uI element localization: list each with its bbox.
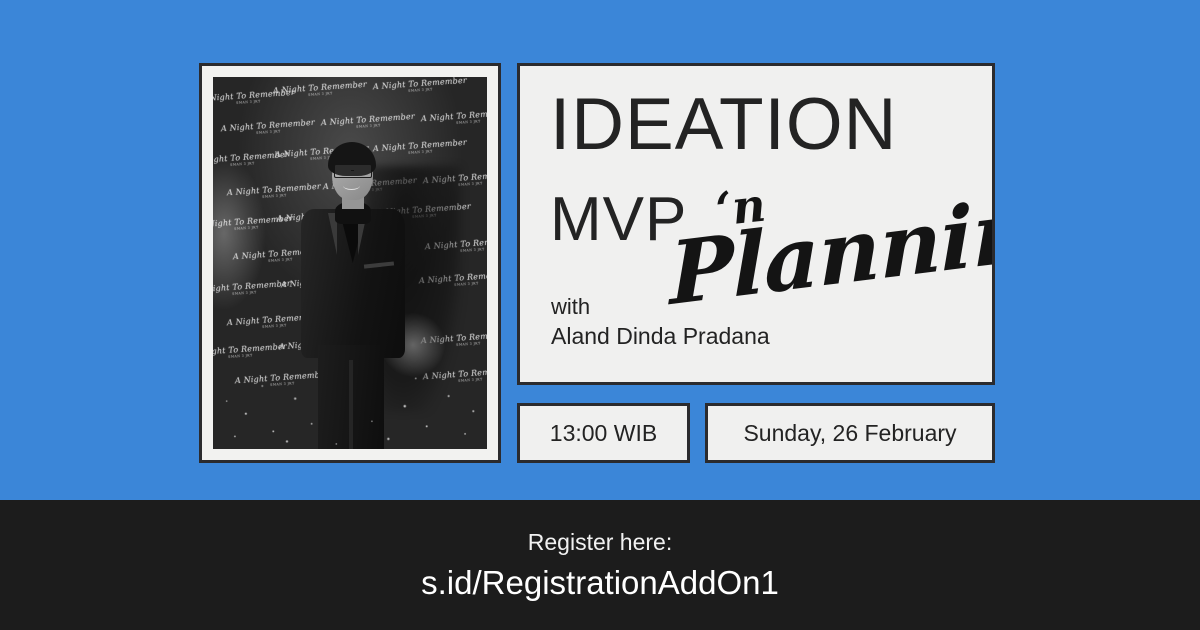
- register-link[interactable]: s.id/RegistrationAddOn1: [421, 564, 779, 602]
- title-line-ideation: IDEATION: [550, 88, 897, 161]
- photo-sparkles: [213, 323, 487, 449]
- register-label: Register here:: [528, 529, 672, 556]
- glasses-icon: [334, 164, 372, 178]
- event-poster: A Night To RememberSMAN 3 JKT A Night To…: [0, 0, 1200, 630]
- title-line-mvp: MVP: [550, 189, 687, 251]
- event-time-box: 13:00 WIB: [517, 403, 690, 463]
- with-label: with: [551, 294, 590, 320]
- speaker-photo-frame: A Night To RememberSMAN 3 JKT A Night To…: [199, 63, 501, 463]
- title-card: IDEATION MVP ‘n Planning with Aland Dind…: [517, 63, 995, 385]
- speaker-photo: A Night To RememberSMAN 3 JKT A Night To…: [213, 77, 487, 449]
- event-date-text: Sunday, 26 February: [743, 420, 956, 447]
- speaker-name: Aland Dinda Pradana: [551, 323, 770, 350]
- event-date-box: Sunday, 26 February: [705, 403, 995, 463]
- event-time-text: 13:00 WIB: [550, 420, 657, 447]
- footer-bar: Register here: s.id/RegistrationAddOn1: [0, 500, 1200, 630]
